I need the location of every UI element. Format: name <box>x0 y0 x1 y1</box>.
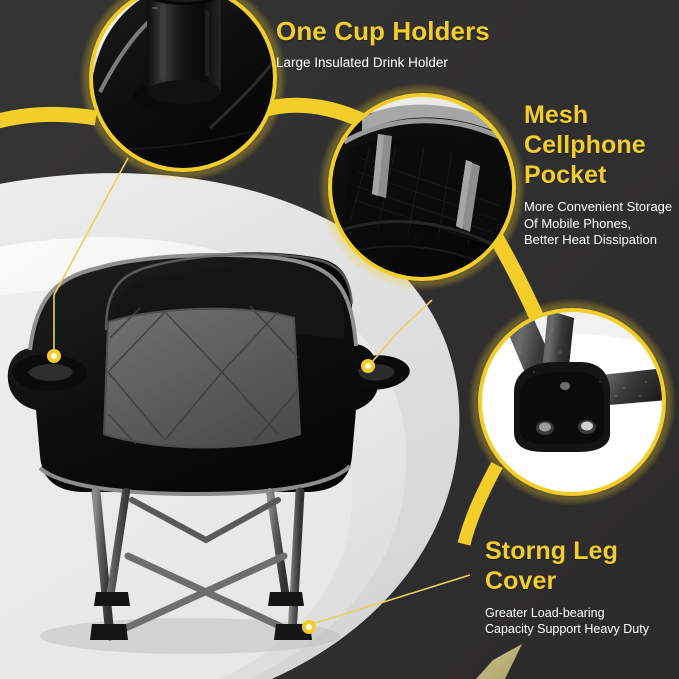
subtitle-line: Of Mobile Phones, <box>524 216 676 233</box>
product-feature-infographic: One Cup Holders Large Insulated Drink Ho… <box>0 0 679 679</box>
callout-cup-holder-title: One Cup Holders <box>276 16 536 46</box>
callout-circle-leg-cover <box>468 298 676 506</box>
subtitle-line: Capacity Support Heavy Duty <box>485 621 679 637</box>
callout-cup-holder-subtitle: Large Insulated Drink Holder <box>276 54 536 71</box>
title-line: Cellphone <box>524 130 676 160</box>
title-line: Storng Leg <box>485 536 679 566</box>
callout-mesh-pocket-title: Mesh Cellphone Pocket <box>524 100 676 190</box>
title-line: Pocket <box>524 160 676 190</box>
subtitle-line: Greater Load-bearing <box>485 605 679 621</box>
title-line: Mesh <box>524 100 676 130</box>
front-leg-foot-marker <box>302 620 316 634</box>
callout-cup-holder: One Cup Holders Large Insulated Drink Ho… <box>276 16 536 71</box>
callout-leg-cover-title: Storng Leg Cover <box>485 536 679 596</box>
callout-circle-mesh-pocket <box>318 83 526 291</box>
callout-leg-cover: Storng Leg Cover Greater Load-bearing Ca… <box>485 536 679 637</box>
right-cup-holder-marker <box>361 359 375 373</box>
callout-mesh-pocket-subtitle: More Convenient Storage Of Mobile Phones… <box>524 199 676 249</box>
callout-mesh-pocket: Mesh Cellphone Pocket More Convenient St… <box>524 100 676 249</box>
callout-leg-cover-subtitle: Greater Load-bearing Capacity Support He… <box>485 605 679 637</box>
left-cup-holder-marker <box>47 349 61 363</box>
subtitle-line: Better Heat Dissipation <box>524 232 676 249</box>
title-line: Cover <box>485 566 679 596</box>
subtitle-line: More Convenient Storage <box>524 199 676 216</box>
